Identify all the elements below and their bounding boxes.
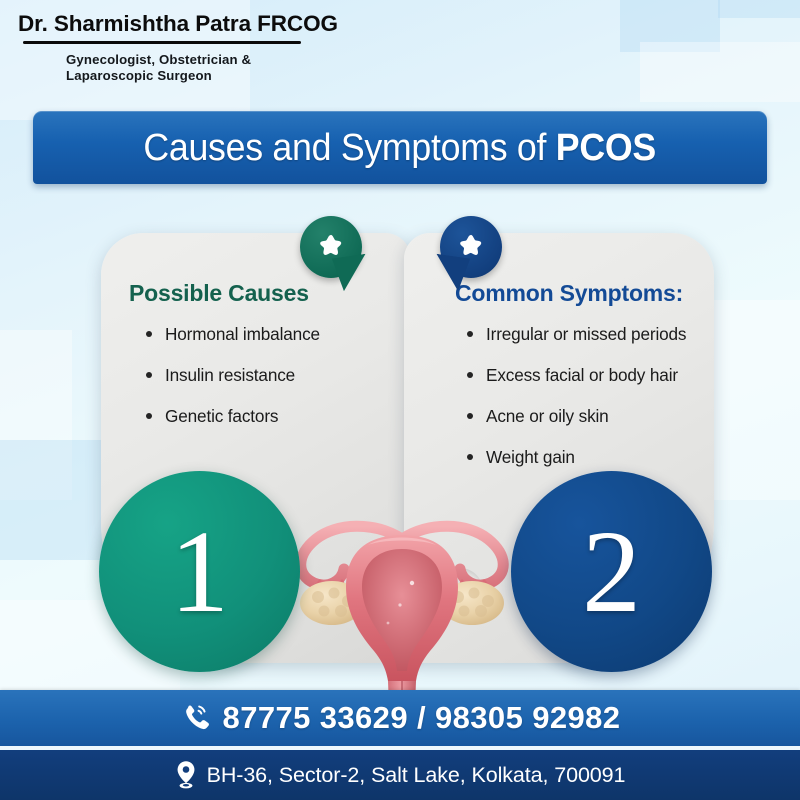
phone-contact-bar[interactable]: 87775 33629 / 98305 92982 bbox=[0, 690, 800, 746]
symptoms-card-title: Common Symptoms: bbox=[455, 280, 683, 307]
causes-card-title: Possible Causes bbox=[129, 280, 309, 307]
cavity-highlight bbox=[398, 603, 401, 606]
clinic-address: BH-36, Sector-2, Salt Lake, Kolkata, 700… bbox=[207, 763, 626, 788]
list-item: Irregular or missed periods bbox=[467, 324, 686, 345]
endometrial-cavity bbox=[362, 549, 442, 671]
list-item: Weight gain bbox=[467, 447, 686, 468]
list-item: Insulin resistance bbox=[146, 365, 320, 386]
address-bar[interactable]: BH-36, Sector-2, Salt Lake, Kolkata, 700… bbox=[0, 750, 800, 800]
list-item: Excess facial or body hair bbox=[467, 365, 686, 386]
symptoms-list: Irregular or missed periods Excess facia… bbox=[467, 324, 686, 488]
list-item: Acne or oily skin bbox=[467, 406, 686, 427]
doctor-specialty: Gynecologist, Obstetrician & Laparoscopi… bbox=[66, 52, 251, 83]
page-title: Causes and Symptoms of PCOS bbox=[144, 129, 657, 167]
causes-star-badge bbox=[300, 216, 362, 278]
doctor-name: Dr. Sharmishtha Patra FRCOG bbox=[18, 11, 338, 37]
list-item: Hormonal imbalance bbox=[146, 324, 320, 345]
header-divider bbox=[23, 41, 301, 44]
causes-list: Hormonal imbalance Insulin resistance Ge… bbox=[146, 324, 320, 447]
symptoms-star-badge bbox=[440, 216, 502, 278]
cavity-highlight bbox=[410, 581, 414, 585]
page-title-highlight: PCOS bbox=[556, 127, 656, 169]
clinic-header: Dr. Sharmishtha Patra FRCOG Gynecologist… bbox=[0, 0, 800, 105]
list-item: Genetic factors bbox=[146, 406, 320, 427]
phone-ring-icon bbox=[180, 702, 212, 734]
step-number-two: 2 bbox=[511, 471, 712, 672]
cavity-highlight bbox=[387, 622, 390, 625]
bg-block bbox=[700, 300, 800, 500]
phone-numbers: 87775 33629 / 98305 92982 bbox=[223, 700, 621, 736]
map-pin-icon bbox=[175, 761, 197, 789]
step-number-one: 1 bbox=[99, 471, 300, 672]
star-icon bbox=[316, 233, 346, 262]
page-title-prefix: Causes and Symptoms of bbox=[144, 127, 556, 169]
title-banner: Causes and Symptoms of PCOS bbox=[33, 111, 767, 184]
star-icon bbox=[456, 233, 486, 262]
